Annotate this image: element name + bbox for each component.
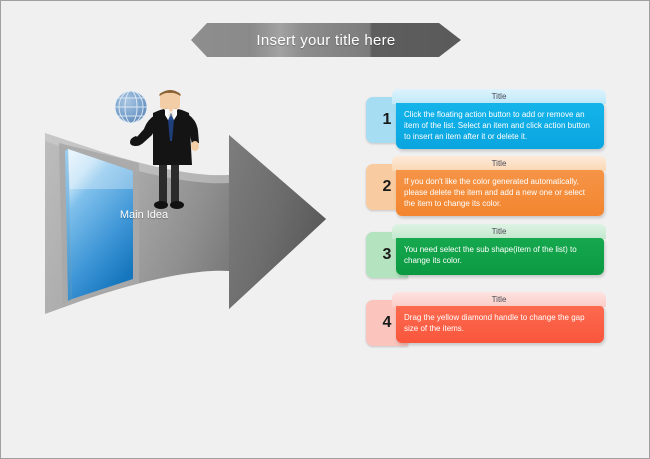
list-item-title[interactable]: Title <box>392 292 606 307</box>
list-item-title[interactable]: Title <box>392 156 606 171</box>
list-item-text[interactable]: Drag the yellow diamond handle to change… <box>396 306 604 343</box>
list-item-title[interactable]: Title <box>392 89 606 104</box>
list-item-text[interactable]: Click the floating action button to add … <box>396 103 604 149</box>
list-item-title[interactable]: Title <box>392 224 606 239</box>
businessman-globe-illustration <box>109 85 217 211</box>
businessman-icon <box>109 85 217 211</box>
title-text: Insert your title here <box>191 19 461 61</box>
title-banner[interactable]: Insert your title here <box>191 19 461 61</box>
list-item-text[interactable]: If you don't like the color generated au… <box>396 170 604 216</box>
globe-icon <box>115 91 147 123</box>
slide-canvas: Insert your title here <box>0 0 650 459</box>
list-item-text[interactable]: You need select the sub shape(item of th… <box>396 238 604 275</box>
